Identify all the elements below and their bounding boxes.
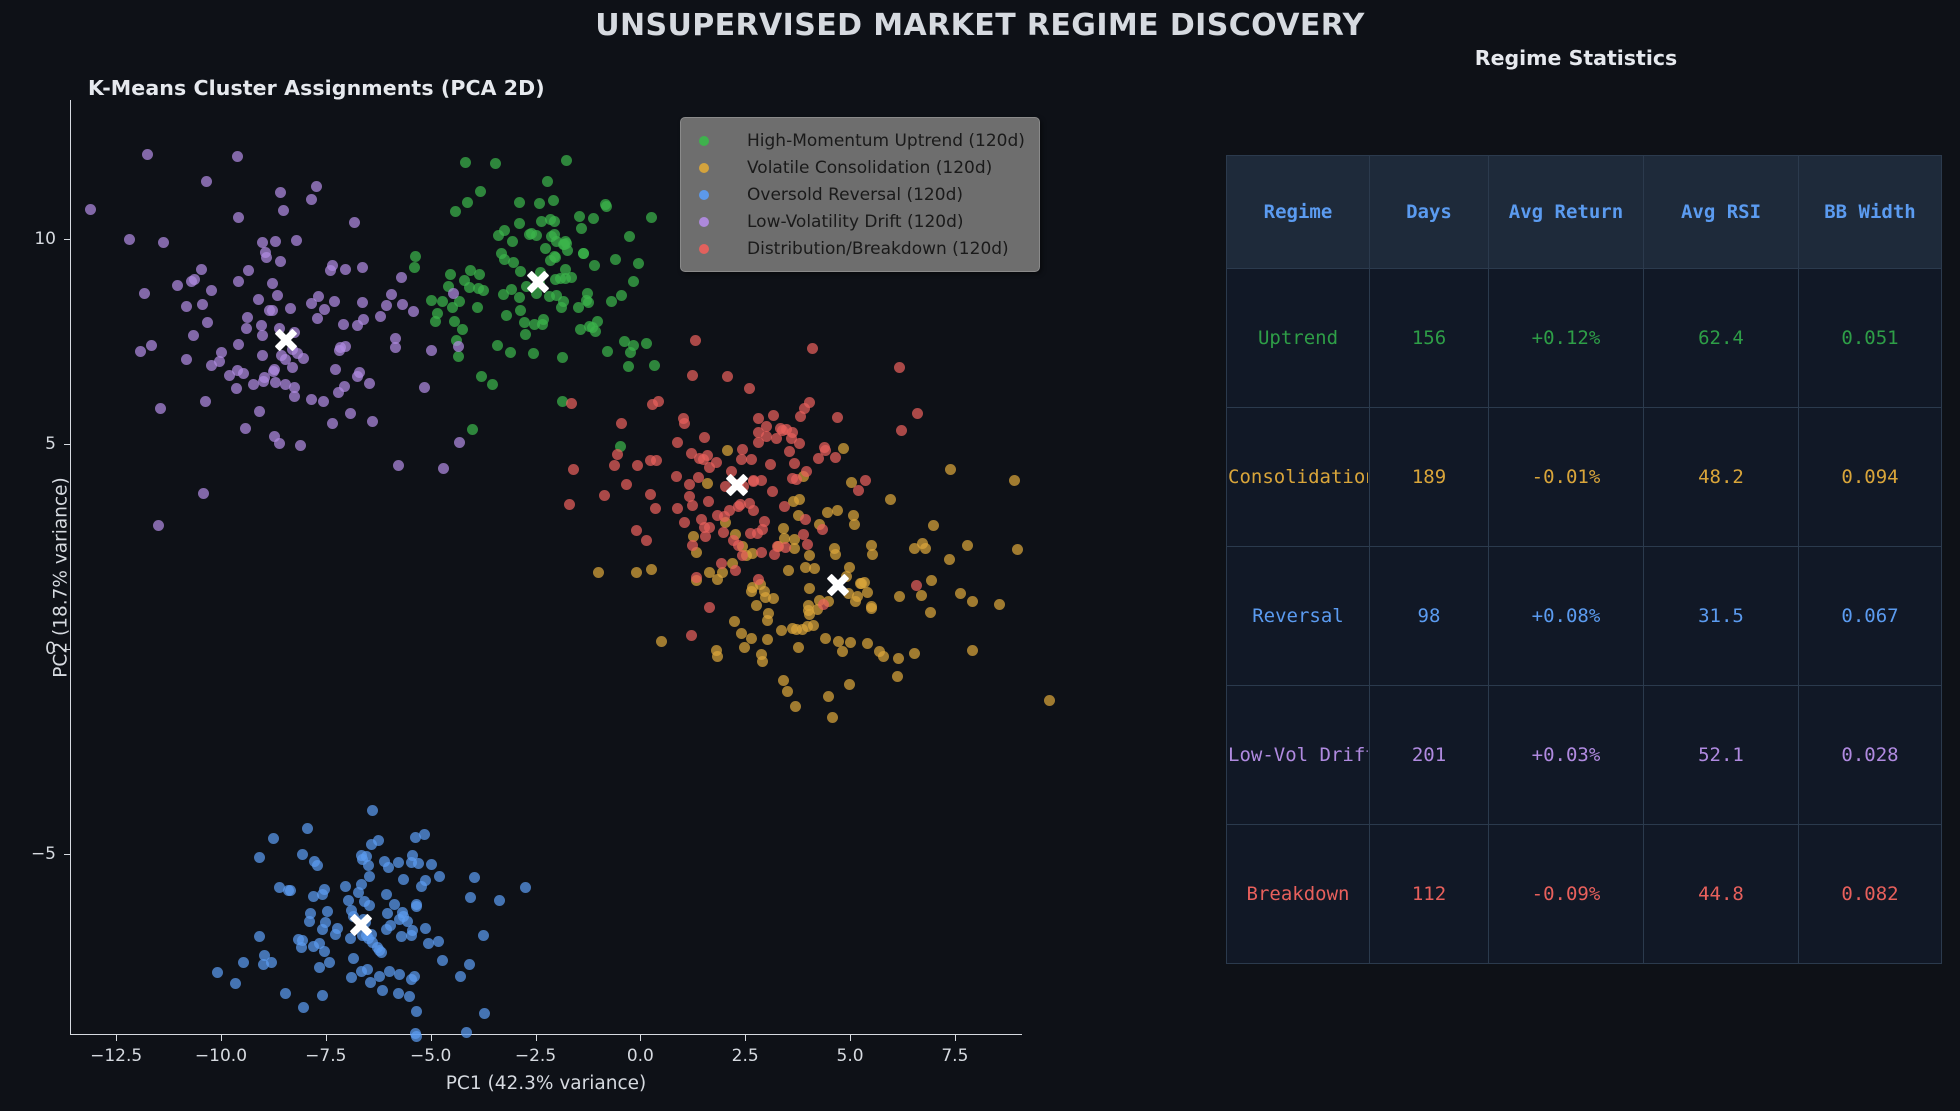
scatter-point (744, 383, 755, 394)
scatter-point (124, 234, 135, 245)
scatter-point (756, 547, 767, 558)
scatter-point (967, 596, 978, 607)
scatter-point (716, 558, 727, 569)
scatter-point (231, 383, 242, 394)
table-cell-regime: Breakdown (1227, 825, 1370, 964)
scatter-point (925, 607, 936, 618)
table-row[interactable]: Breakdown112-0.09%44.80.082 (1227, 825, 1942, 964)
scatter-point (912, 408, 923, 419)
scatter-point (619, 336, 630, 347)
scatter-point (453, 341, 464, 352)
scatter-point (308, 891, 319, 902)
table-column-header[interactable]: Avg RSI (1644, 156, 1799, 269)
scatter-point (296, 942, 307, 953)
x-axis-label: PC1 (42.3% variance) (70, 1073, 1022, 1094)
scatter-point (505, 347, 516, 358)
scatter-point (386, 289, 397, 300)
table-column-header[interactable]: BB Width (1799, 156, 1942, 269)
x-tick (955, 1035, 956, 1041)
table-cell-avg-return: +0.08% (1489, 547, 1644, 686)
table-cell-value: 62.4 (1645, 327, 1797, 349)
scatter-point (314, 938, 325, 949)
scatter-point (679, 517, 690, 528)
table-column-header[interactable]: Regime (1227, 156, 1370, 269)
scatter-point (687, 370, 698, 381)
x-tick-label: −12.5 (90, 1046, 142, 1066)
scatter-point (778, 523, 789, 534)
cluster-centroid-marker (271, 325, 301, 355)
scatter-point (699, 432, 710, 443)
scatter-point (578, 248, 589, 259)
scatter-point (671, 471, 682, 482)
scatter-point (625, 347, 636, 358)
scatter-point (437, 955, 448, 966)
table-cell-value: 112 (1371, 883, 1487, 905)
scatter-point (340, 264, 351, 275)
scatter-point (612, 449, 623, 460)
scatter-point (317, 990, 328, 1001)
table-cell-days: 201 (1370, 686, 1489, 825)
scatter-point (469, 872, 480, 883)
scatter-point (761, 421, 772, 432)
legend-item[interactable]: High-Momentum Uptrend (120d) (691, 127, 1025, 154)
scatter-point (381, 924, 392, 935)
scatter-point (375, 311, 386, 322)
scatter-point (474, 269, 485, 280)
scatter-point (837, 646, 848, 657)
scatter-point (314, 962, 325, 973)
scatter-point (686, 630, 697, 641)
table-cell-avg-rsi: 48.2 (1644, 408, 1799, 547)
table-cell-value: 0.051 (1800, 327, 1940, 349)
scatter-point (327, 260, 338, 271)
scatter-point (475, 186, 486, 197)
scatter-point (767, 486, 778, 497)
scatter-point (409, 262, 420, 273)
scatter-point (135, 346, 146, 357)
scatter-point (687, 500, 698, 511)
scatter-point (520, 329, 531, 340)
scatter-point (645, 455, 656, 466)
scatter-point (426, 859, 437, 870)
scatter-point (601, 201, 612, 212)
table-cell-avg-return: -0.09% (1489, 825, 1644, 964)
table-cell-bb-width: 0.067 (1799, 547, 1942, 686)
scatter-point (672, 437, 683, 448)
scatter-point (306, 194, 317, 205)
scatter-point (829, 543, 840, 554)
scatter-point (479, 1008, 490, 1019)
scatter-point (189, 274, 200, 285)
x-axis-spine (70, 1034, 1022, 1035)
scatter-point (354, 367, 365, 378)
scatter-point (233, 212, 244, 223)
scatter-point (909, 648, 920, 659)
scatter-point (409, 971, 420, 982)
legend-swatch-icon (699, 217, 709, 227)
scatter-point (377, 985, 388, 996)
table-body: Uptrend156+0.12%62.40.051Consolidation18… (1227, 269, 1942, 964)
scatter-point (291, 235, 302, 246)
scatter-point (297, 849, 308, 860)
table-cell-value: 201 (1371, 744, 1487, 766)
x-tick-label: −5.0 (410, 1046, 451, 1066)
scatter-point (472, 302, 483, 313)
table-cell-value: Breakdown (1228, 883, 1368, 905)
scatter-point (257, 330, 268, 341)
table-cell-avg-rsi: 52.1 (1644, 686, 1799, 825)
table-cell-value: +0.12% (1490, 327, 1642, 349)
scatter-point (800, 514, 811, 525)
table-cell-value: Reversal (1228, 605, 1368, 627)
scatter-point (820, 633, 831, 644)
scatter-point (690, 335, 701, 346)
scatter-point (729, 616, 740, 627)
table-cell-value: Uptrend (1228, 327, 1368, 349)
table-row[interactable]: Uptrend156+0.12%62.40.051 (1227, 269, 1942, 408)
scatter-point (181, 354, 192, 365)
scatter-point (862, 638, 873, 649)
scatter-point (783, 565, 794, 576)
scatter-point (329, 296, 340, 307)
scatter-point (602, 346, 613, 357)
scatter-point (410, 832, 421, 843)
scatter-point (153, 520, 164, 531)
scatter-point (515, 305, 526, 316)
scatter-point (270, 236, 281, 247)
scatter-point (878, 651, 889, 662)
cluster-centroid-marker (523, 267, 553, 297)
scatter-point (778, 675, 789, 686)
scatter-point (393, 460, 404, 471)
scatter-point (275, 256, 286, 267)
scatter-point (576, 223, 587, 234)
scatter-point (994, 599, 1005, 610)
scatter-point (285, 303, 296, 314)
x-tick-label: −10.0 (195, 1046, 247, 1066)
scatter-point (404, 991, 415, 1002)
scatter-point (833, 636, 844, 647)
scatter-point (364, 378, 375, 389)
scatter-point (885, 494, 896, 505)
scatter-point (819, 442, 830, 453)
scatter-point (818, 599, 829, 610)
scatter-point (616, 290, 627, 301)
scatter-point (306, 394, 317, 405)
scatter-point (465, 892, 476, 903)
scatter-point (624, 231, 635, 242)
scatter-point (807, 343, 818, 354)
scatter-point (866, 603, 877, 614)
scatter-point (254, 406, 265, 417)
scatter-point (340, 881, 351, 892)
scatter-point (381, 889, 392, 900)
scatter-point (283, 885, 294, 896)
scatter-point (201, 176, 212, 187)
scatter-point (606, 296, 617, 307)
scatter-point (926, 575, 937, 586)
scatter-point (700, 531, 711, 542)
scatter-point (845, 637, 856, 648)
scatter-point (566, 398, 577, 409)
legend-item-label: High-Momentum Uptrend (120d) (747, 131, 1025, 151)
scatter-point (786, 433, 797, 444)
scatter-point (623, 361, 634, 372)
scatter-point (564, 499, 575, 510)
table-row[interactable]: Reversal98+0.08%31.50.067 (1227, 547, 1942, 686)
scatter-point (756, 475, 767, 486)
scatter-point (646, 212, 657, 223)
scatter-point (278, 205, 289, 216)
scatter-point (493, 230, 504, 241)
scatter-point (438, 463, 449, 474)
table-cell-value: +0.08% (1490, 605, 1642, 627)
scatter-point (531, 230, 542, 241)
scatter-point (298, 1002, 309, 1013)
scatter-point (155, 403, 166, 414)
scatter-point (537, 319, 548, 330)
scatter-point (420, 923, 431, 934)
scatter-point (327, 418, 338, 429)
scatter-point (561, 238, 572, 249)
scatter-point (320, 917, 331, 928)
scatter-point (382, 908, 393, 919)
scatter-point (312, 313, 323, 324)
scatter-point (410, 251, 421, 262)
scatter-point (765, 459, 776, 470)
scatter-point (358, 314, 369, 325)
scatter-point (730, 565, 741, 576)
scatter-point (367, 416, 378, 427)
scatter-point (704, 602, 715, 613)
scatter-point (832, 505, 843, 516)
scatter-point (200, 396, 211, 407)
scatter-point (268, 833, 279, 844)
scatter-point (406, 930, 417, 941)
table-column-header-label: BB Width (1800, 201, 1940, 223)
scatter-point (330, 929, 341, 940)
table-cell-value: 44.8 (1645, 883, 1797, 905)
x-tick-label: 0.0 (627, 1046, 654, 1066)
scatter-point (492, 340, 503, 351)
table-cell-avg-rsi: 44.8 (1644, 825, 1799, 964)
scatter-point (632, 460, 643, 471)
scatter-point (411, 1006, 422, 1017)
scatter-point (318, 396, 329, 407)
scatter-point (641, 338, 652, 349)
scatter-point (722, 371, 733, 382)
scatter-point (389, 899, 400, 910)
scatter-point (780, 542, 791, 553)
scatter-point (784, 446, 795, 457)
scatter-point (434, 871, 445, 882)
x-tick (850, 1035, 851, 1041)
scatter-point (588, 213, 599, 224)
scatter-point (844, 679, 855, 690)
legend-item[interactable]: Low-Volatility Drift (120d) (691, 208, 1025, 235)
scatter-point (366, 839, 377, 850)
scatter-point (506, 284, 517, 295)
scatter-point (233, 276, 244, 287)
legend-item-label: Oversold Reversal (120d) (747, 185, 963, 205)
table-row[interactable]: Consolidation189-0.01%48.20.094 (1227, 408, 1942, 547)
scatter-point (528, 348, 539, 359)
scatter-point (196, 264, 207, 275)
scatter-point (1009, 475, 1020, 486)
scatter-point (364, 900, 375, 911)
scatter-point (945, 464, 956, 475)
cluster-centroid-marker (346, 910, 376, 940)
table-cell-avg-return: +0.03% (1489, 686, 1644, 825)
scatter-point (540, 243, 551, 254)
scatter-point (944, 554, 955, 565)
scatter-point (746, 586, 757, 597)
table-cell-avg-return: -0.01% (1489, 408, 1644, 547)
scatter-point (357, 262, 368, 273)
scatter-point (248, 379, 259, 390)
x-tick (326, 1035, 327, 1041)
table-row[interactable]: Low-Vol Drift201+0.03%52.10.028 (1227, 686, 1942, 825)
scatter-point (455, 971, 466, 982)
scatter-point (254, 931, 265, 942)
scatter-point (928, 520, 939, 531)
scatter-point (751, 600, 762, 611)
scatter-point (267, 305, 278, 316)
x-tick-label: 7.5 (941, 1046, 968, 1066)
table-column-header[interactable]: Avg Return (1489, 156, 1644, 269)
scatter-point (394, 969, 405, 980)
scatter-point (416, 881, 427, 892)
scatter-point (514, 218, 525, 229)
scatter-point (791, 624, 802, 635)
scatter-point (304, 916, 315, 927)
scatter-point (478, 930, 489, 941)
scatter-point (258, 376, 269, 387)
scatter-point (1012, 544, 1023, 555)
scatter-point (791, 474, 802, 485)
scatter-point (748, 505, 759, 516)
scatter-point (295, 440, 306, 451)
table-column-header[interactable]: Days (1370, 156, 1489, 269)
scatter-point (450, 206, 461, 217)
table-head: RegimeDaysAvg ReturnAvg RSIBB Width (1227, 156, 1942, 269)
table-cell-bb-width: 0.028 (1799, 686, 1942, 825)
scatter-point (206, 285, 217, 296)
scatter-point (804, 550, 815, 561)
scatter-point (448, 288, 459, 299)
scatter-point (411, 901, 422, 912)
legend-item[interactable]: Volatile Consolidation (120d) (691, 154, 1025, 181)
legend-item[interactable]: Distribution/Breakdown (120d) (691, 235, 1025, 262)
scatter-point (330, 364, 341, 375)
table-cell-days: 156 (1370, 269, 1489, 408)
scatter-point (357, 297, 368, 308)
scatter-point (793, 642, 804, 653)
legend-item-label: Volatile Consolidation (120d) (747, 158, 992, 178)
table-cell-regime: Uptrend (1227, 269, 1370, 408)
scatter-point (746, 454, 757, 465)
scatter-point (866, 540, 877, 551)
scatter-point (146, 340, 157, 351)
legend-swatch-icon (699, 136, 709, 146)
x-tick-label: −2.5 (515, 1046, 556, 1066)
scatter-point (419, 829, 430, 840)
scatter-point (242, 312, 253, 323)
table-cell-avg-rsi: 62.4 (1644, 269, 1799, 408)
legend-item[interactable]: Oversold Reversal (120d) (691, 181, 1025, 208)
scatter-point (813, 453, 824, 464)
x-tick (640, 1035, 641, 1041)
scatter-point (426, 345, 437, 356)
table-cell-regime: Low-Vol Drift (1227, 686, 1370, 825)
scatter-point (275, 187, 286, 198)
scatter-point (804, 583, 815, 594)
y-tick-label: 10 (34, 229, 56, 249)
cluster-centroid-marker (823, 570, 853, 600)
scatter-point (718, 527, 729, 538)
cluster-legend[interactable]: High-Momentum Uptrend (120d)Volatile Con… (680, 117, 1040, 272)
scatter-point (556, 302, 567, 313)
scatter-point (574, 211, 585, 222)
scatter-point (782, 686, 793, 697)
table-cell-value: 156 (1371, 327, 1487, 349)
x-tick (431, 1035, 432, 1041)
legend-swatch-icon (699, 244, 709, 254)
scatter-point (514, 197, 525, 208)
table-cell-value: 52.1 (1645, 744, 1797, 766)
scatter-point (437, 296, 448, 307)
scatter-point (789, 458, 800, 469)
scatter-point (693, 472, 704, 483)
scatter-point (460, 157, 471, 168)
scatter-point (309, 856, 320, 867)
cluster-centroid-marker (722, 470, 752, 500)
x-tick (116, 1035, 117, 1041)
scatter-point (411, 1031, 422, 1042)
scatter-point (390, 342, 401, 353)
scatter-point (799, 403, 810, 414)
scatter-point (494, 895, 505, 906)
table-column-header-label: Avg Return (1490, 201, 1642, 223)
scatter-point (214, 356, 225, 367)
scatter-point (396, 272, 407, 283)
scatter-point (679, 418, 690, 429)
scatter-point (476, 371, 487, 382)
scatter-point (243, 265, 254, 276)
scatter-point (776, 625, 787, 636)
scatter-point (916, 590, 927, 601)
scatter-point (823, 691, 834, 702)
table-cell-bb-width: 0.082 (1799, 825, 1942, 964)
scatter-point (801, 466, 812, 477)
scatter-point (917, 538, 928, 549)
table-cell-value: 189 (1371, 466, 1487, 488)
scatter-point (345, 408, 356, 419)
table-cell-value: 48.2 (1645, 466, 1797, 488)
scatter-point (238, 957, 249, 968)
scatter-point (589, 260, 600, 271)
scatter-point (333, 387, 344, 398)
scatter-point (259, 950, 270, 961)
table-cell-value: +0.03% (1490, 744, 1642, 766)
scatter-point (274, 438, 285, 449)
scatter-point (232, 365, 243, 376)
table-column-header-label: Regime (1228, 201, 1368, 223)
scatter-point (85, 204, 96, 215)
scatter-point (197, 299, 208, 310)
y-axis-label: PC2 (18.7% variance) (51, 278, 72, 878)
scatter-point (568, 464, 579, 475)
